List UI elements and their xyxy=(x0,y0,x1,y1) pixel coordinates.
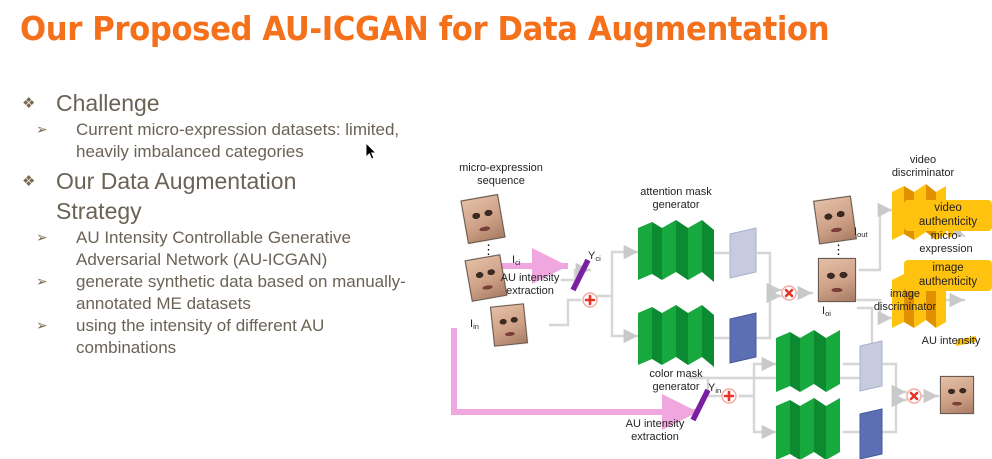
y-in-slash xyxy=(693,390,708,420)
micro-expression-sequence-label: micro-expressionsequence xyxy=(446,162,556,188)
slide-canvas: Our Proposed AU-ICGAN for Data Augmentat… xyxy=(0,0,992,459)
tensor-label-Y-in: Yin xyxy=(708,382,721,397)
bottom-generator-block-lower xyxy=(776,398,840,459)
sub-bullet-label: AU Intensity Controllable Generative Adv… xyxy=(76,227,421,270)
operator-multiply-middle xyxy=(782,286,796,300)
arrow-bullet-icon: ➢ xyxy=(14,271,76,293)
bullet-item-strategy: ❖ Our Data Augmentation Strategy xyxy=(14,166,454,226)
sub-bullet-label: using the intensity of different AU comb… xyxy=(76,315,421,358)
sub-bullet-label: generate synthetic data based on manuall… xyxy=(76,271,421,314)
face-thumbnail-input xyxy=(490,303,528,346)
sub-bullet-synthetic-data: ➢ generate synthetic data based on manua… xyxy=(14,271,454,314)
au-intensity-extraction-top-label: AU intensityextraction xyxy=(482,272,578,298)
au-intensity-extraction-bottom-label: AU intensityextraction xyxy=(600,418,710,444)
face-thumbnail-output-first xyxy=(813,196,857,245)
sub-bullet-au-combinations: ➢ using the intensity of different AU co… xyxy=(14,315,454,358)
bottom-color-slab xyxy=(860,409,882,459)
slide-body: ❖ Challenge ➢ Current micro-expression d… xyxy=(14,88,454,359)
page-title: Our Proposed AU-ICGAN for Data Augmentat… xyxy=(20,9,857,48)
micro-expression-output-label: micro-expression xyxy=(904,230,988,256)
tensor-label-I-out: Iout xyxy=(854,226,868,241)
color-mask-generator-block xyxy=(638,305,714,367)
tensor-label-I-ci: Ici xyxy=(512,254,520,269)
video-authenticity-badge: videoauthenticity xyxy=(904,200,992,231)
bullet-label: Challenge xyxy=(56,88,160,118)
sub-bullet-augican: ➢ AU Intensity Controllable Generative A… xyxy=(14,227,454,270)
color-mask-slab xyxy=(730,313,756,363)
operator-concat-top xyxy=(583,293,597,307)
face-thumbnail-sequence-first xyxy=(460,194,505,244)
diamond-bullet-icon: ❖ xyxy=(14,166,56,196)
sequence-ellipsis: ⋮ xyxy=(482,247,495,252)
output-ellipsis: ⋮ xyxy=(832,247,845,252)
tensor-label-Y-ci: Yci xyxy=(588,250,601,265)
arrow-bullet-icon: ➢ xyxy=(14,119,76,141)
au-icgan-architecture-diagram: ⋮ ⋮ micro-expressionsequence AU intensit… xyxy=(440,150,992,459)
attention-mask-generator-block xyxy=(638,220,714,282)
operator-multiply-right xyxy=(907,389,921,403)
bottom-generator-block-upper xyxy=(776,330,840,392)
sub-bullet-datasets: ➢ Current micro-expression datasets: lim… xyxy=(14,119,454,162)
bottom-attention-slab xyxy=(860,341,882,391)
tensor-label-I-in: Iin xyxy=(470,318,479,333)
diamond-bullet-icon: ❖ xyxy=(14,88,56,118)
attention-mask-generator-label: attention maskgenerator xyxy=(616,186,736,212)
image-discriminator-label: imagediscriminator xyxy=(840,288,970,314)
video-discriminator-label: videodiscriminator xyxy=(858,154,988,180)
bullet-item-challenge: ❖ Challenge xyxy=(14,88,454,118)
attention-mask-slab xyxy=(730,228,756,278)
image-authenticity-badge: imageauthenticity xyxy=(904,260,992,291)
tensor-label-I-oi: Ioi xyxy=(822,305,831,320)
sub-bullet-label: Current micro-expression datasets: limit… xyxy=(76,119,421,162)
arrow-bullet-icon: ➢ xyxy=(14,315,76,337)
bullet-label: Our Data Augmentation Strategy xyxy=(56,166,376,226)
au-intensity-output-label: AU intensity xyxy=(910,335,992,348)
arrow-bullet-icon: ➢ xyxy=(14,227,76,249)
face-thumbnail-final xyxy=(940,376,974,414)
